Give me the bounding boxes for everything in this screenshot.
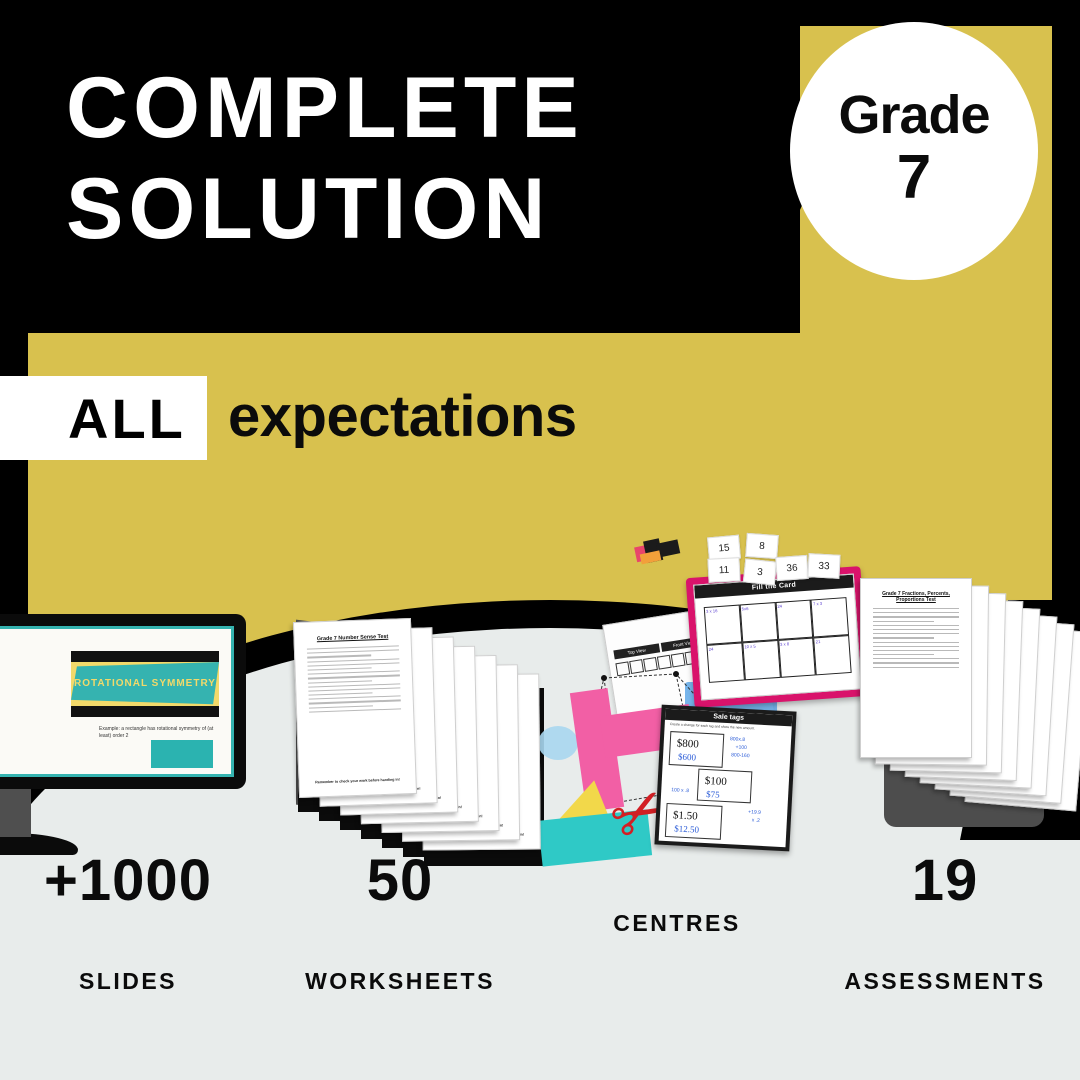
- grade-badge: Grade 7: [790, 22, 1038, 280]
- title-line-1: COMPLETE: [66, 58, 666, 159]
- slide-example: Example: a rectangle has rotational symm…: [99, 726, 219, 740]
- worksheet-text-line: [308, 675, 400, 679]
- pocket-cell: 24: [706, 642, 744, 682]
- pocket-cell: 3 x 16: [704, 605, 742, 645]
- stat-slides: +1000 SLIDES: [0, 852, 256, 995]
- ink-note: x .2: [752, 817, 760, 824]
- grade-badge-word: Grade: [838, 88, 989, 142]
- banner-inner: ROTATIONAL SYMMETRY: [71, 662, 219, 706]
- worksheet-text-line: [308, 687, 400, 691]
- sale-card-inner: Sale tags Create a change for each tag a…: [659, 709, 793, 847]
- fill-the-card-pocket: Fill the Card 3 x 16 5x6 24 7 x 3 24 10 …: [686, 566, 870, 708]
- worksheet-text-line: [307, 655, 371, 658]
- number-card: 36: [775, 555, 809, 581]
- pocket-inner: Fill the Card 3 x 16 5x6 24 7 x 3 24 10 …: [693, 574, 862, 701]
- stat-label: WORKSHEETS: [256, 968, 544, 995]
- tag-price: $800: [676, 737, 699, 750]
- worksheet-text-line: [309, 708, 401, 712]
- stat-number: 50: [256, 852, 544, 910]
- assessment-text-line: [873, 612, 959, 613]
- pocket-cell: 3 x 8: [778, 637, 816, 677]
- assessment-text-line: [873, 616, 959, 617]
- pocket-cell: 10 x 5: [742, 640, 780, 680]
- stat-number: +1000: [0, 852, 256, 910]
- ink-note: 100 x .8: [671, 787, 689, 794]
- centres-group: Top View Front View Side View 50% Off: [530, 530, 860, 860]
- price-tag: $100 $75: [697, 769, 753, 804]
- tag-answer: $75: [706, 789, 720, 800]
- pocket-cell: 5x6: [739, 602, 777, 642]
- sale-tags-card: Sale tags Create a change for each tag a…: [654, 705, 796, 852]
- stat-label: ASSESSMENTS: [810, 968, 1080, 995]
- tag-price: $1.50: [673, 809, 698, 822]
- ink-note: 800x.8: [730, 736, 745, 743]
- marker-icon: [633, 533, 688, 565]
- stat-label: CENTRES: [544, 910, 810, 937]
- assessment-text-line: [873, 637, 934, 638]
- number-card: 11: [707, 557, 740, 583]
- assessment-text-line: [873, 667, 959, 668]
- subhead-highlight: ALL: [68, 391, 186, 447]
- tag-price: $100: [705, 775, 728, 788]
- assessment-text-line: [873, 642, 959, 643]
- worksheet-footer: Remember to check your work before handi…: [300, 777, 416, 785]
- slides-monitor: Symmetries State the order of rotational…: [0, 614, 246, 789]
- worksheet-text-line: [307, 650, 399, 654]
- worksheets-stack: Remember to check your work before handi…: [296, 620, 546, 825]
- assessment-text-line: [873, 621, 934, 622]
- number-card: 8: [745, 533, 779, 559]
- yarn-ball: [538, 726, 578, 760]
- right-border: [1052, 0, 1080, 640]
- assessment-text-line: [873, 658, 959, 659]
- ink-note: +19.9: [748, 809, 761, 816]
- monitor-screen: Symmetries State the order of rotational…: [0, 626, 234, 777]
- assessment-text-line: [873, 633, 959, 634]
- assessment-text-line: [873, 662, 959, 663]
- number-card: 33: [807, 553, 840, 579]
- worksheet-text-line: [308, 680, 372, 683]
- assessment-text-line: [873, 625, 959, 626]
- title-line-2: SOLUTION: [66, 159, 666, 260]
- number-card: 3: [743, 558, 777, 585]
- stat-assessments: 19 ASSESSMENTS: [810, 852, 1080, 995]
- assessment-text-line: [873, 654, 934, 655]
- stat-worksheets: 50 WORKSHEETS: [256, 852, 544, 995]
- pocket-cell: 21: [813, 635, 851, 675]
- stats-row: +1000 SLIDES 50 WORKSHEETS CENTRES 19 AS…: [0, 852, 1080, 992]
- slide-banner: ROTATIONAL SYMMETRY: [71, 651, 219, 717]
- slide-teal-rectangle: [151, 740, 213, 768]
- tag-answer: $12.50: [674, 823, 699, 834]
- assessment-text-line: [873, 608, 959, 609]
- stat-label: SLIDES: [0, 968, 256, 995]
- worksheet-text-line: [309, 692, 373, 695]
- pocket-cell: 24: [775, 600, 813, 640]
- ink-note: +100: [735, 744, 747, 751]
- assessment-text-line: [873, 646, 959, 647]
- tag-answer: $600: [678, 751, 696, 762]
- stat-centres: CENTRES: [544, 852, 810, 937]
- assessment-title: Grade 7 Fractions, Percents, Proportions…: [869, 591, 963, 603]
- poster-canvas: COMPLETE SOLUTION Grade 7 ALL expectatio…: [0, 0, 1080, 1080]
- assessment-text-line: [873, 629, 959, 630]
- monitor-neck: [0, 789, 31, 837]
- banner-text: ROTATIONAL SYMMETRY: [74, 678, 216, 690]
- worksheet-text-line: [309, 700, 401, 704]
- pocket-grid: 3 x 16 5x6 24 7 x 3 24 10 x 5 3 x 8 21: [704, 597, 852, 683]
- worksheet-text-line: [307, 662, 399, 666]
- price-tag: $1.50 $12.50: [665, 803, 723, 840]
- stat-number: 19: [810, 852, 1080, 910]
- worksheet-text-line: [309, 705, 373, 708]
- worksheet-page: Grade 7 Number Sense TestRemember to che…: [293, 618, 417, 798]
- pocket-cell: 7 x 3: [811, 597, 849, 637]
- assessment-page: Grade 7 Fractions, Percents, Proportions…: [860, 578, 972, 758]
- ink-note: 800-160: [731, 752, 750, 759]
- worksheet-text-line: [308, 667, 372, 670]
- price-tag: $800 $600: [669, 731, 725, 768]
- subhead-rest: expectations: [228, 388, 577, 446]
- page-title: COMPLETE SOLUTION: [66, 58, 666, 259]
- assessment-text-line: [873, 650, 959, 651]
- grade-badge-number: 7: [897, 142, 931, 213]
- worksheet-title: Grade 7 Number Sense Test: [304, 633, 400, 642]
